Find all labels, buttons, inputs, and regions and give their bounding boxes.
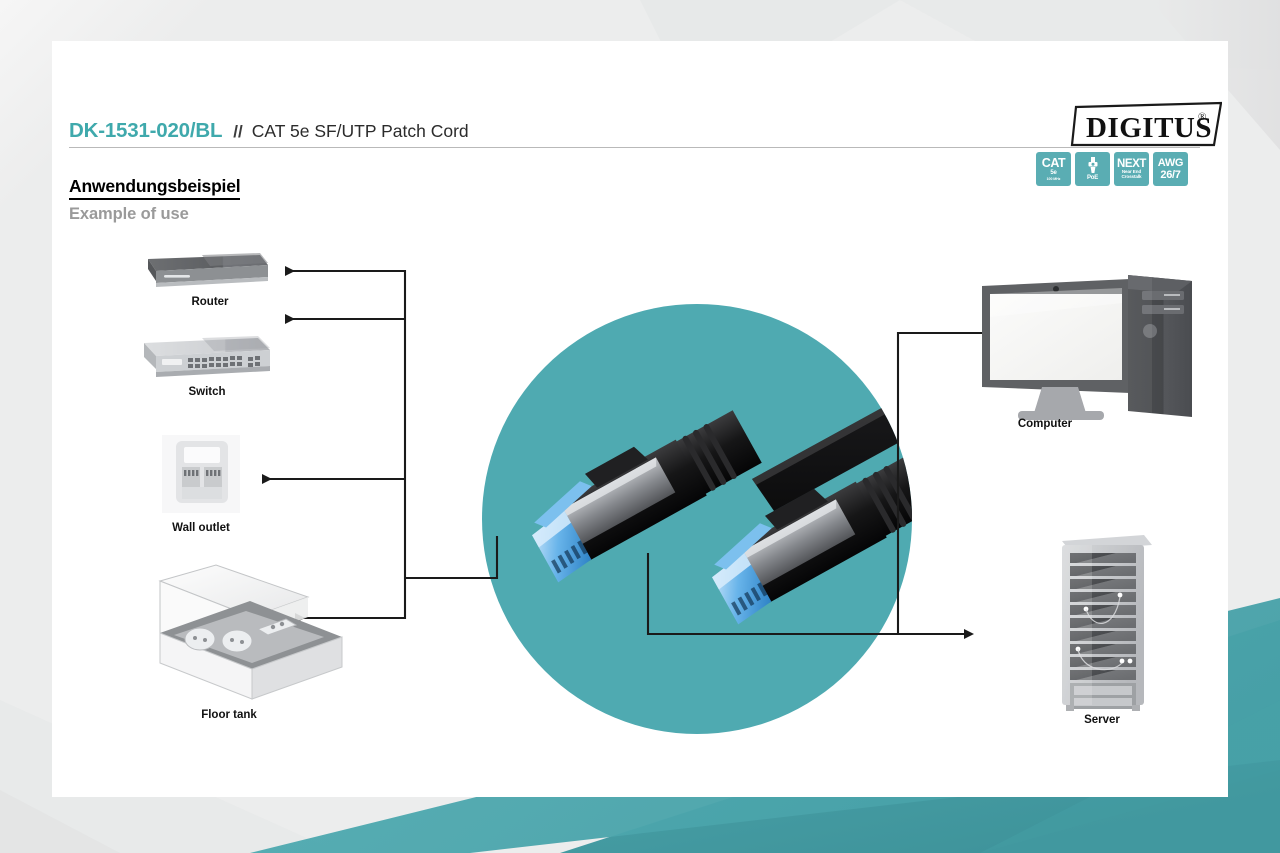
content-card: DIGITUS ® DK-1531-020/BL // CAT 5e SF/UT…	[52, 41, 1228, 797]
floor-tank-label: Floor tank	[179, 709, 279, 721]
router-icon	[148, 253, 268, 287]
computer-label: Computer	[995, 418, 1095, 430]
floor-tank-icon	[160, 565, 342, 699]
computer-tower	[1128, 275, 1192, 417]
arrow-to-router	[285, 271, 405, 578]
arrow-to-computer	[898, 333, 992, 634]
server-icon	[1062, 535, 1152, 711]
arrow-to-floor-tank	[295, 578, 405, 618]
application-diagram: Router Switch Wall outlet Floor tank Com…	[52, 41, 1228, 797]
server-label: Server	[1052, 714, 1152, 726]
wall-outlet-label: Wall outlet	[151, 522, 251, 534]
switch-icon	[144, 336, 270, 377]
wall-outlet-icon	[162, 435, 240, 513]
switch-label: Switch	[157, 386, 257, 398]
leader-left-riser	[405, 536, 497, 578]
router-label: Router	[160, 296, 260, 308]
computer-icon	[982, 275, 1192, 420]
